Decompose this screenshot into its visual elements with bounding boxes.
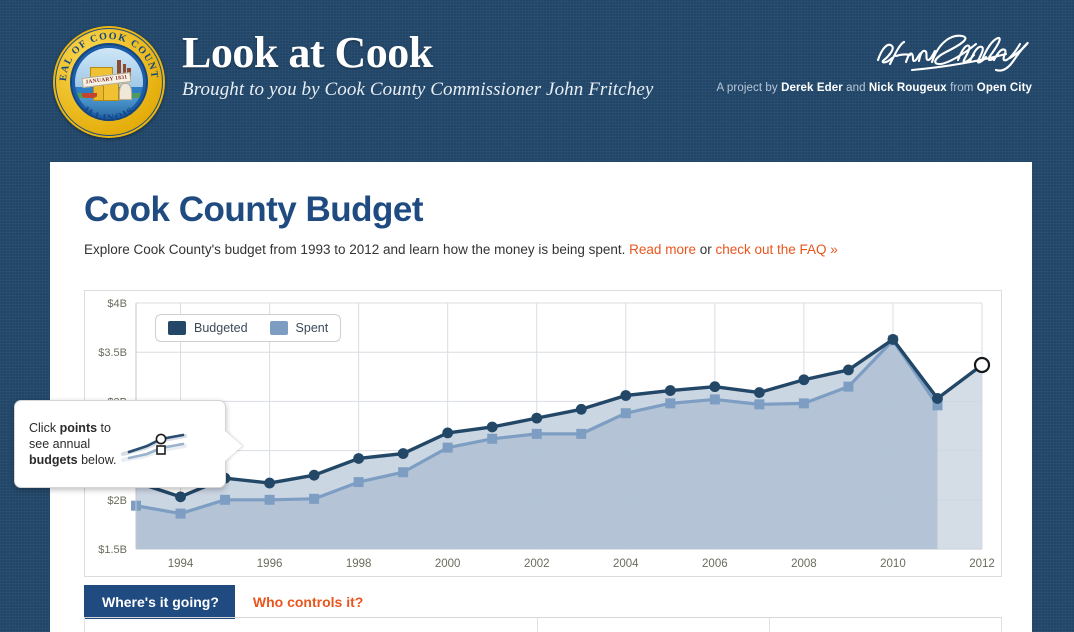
budgeted-data-point[interactable] xyxy=(442,427,453,438)
budgeted-data-point[interactable] xyxy=(709,381,720,392)
x-axis-tick-label: 2008 xyxy=(791,558,817,570)
credits-text: A project by Derek Eder and Nick Rougeux… xyxy=(702,82,1032,94)
budgeted-data-point-selected[interactable] xyxy=(975,358,989,372)
x-axis-tick-label: 2002 xyxy=(524,558,550,570)
spent-data-point[interactable] xyxy=(354,477,364,487)
budgeted-data-point[interactable] xyxy=(576,404,587,415)
callout-text: Click points to see annual budgets below… xyxy=(15,420,119,468)
legend-item-spent[interactable]: Spent xyxy=(270,321,329,335)
seal-ring-text: SEAL OF COOK COUNTY ILLINOIS xyxy=(53,26,165,138)
budgeted-data-point[interactable] xyxy=(620,390,631,401)
budgeted-data-point[interactable] xyxy=(264,478,275,489)
spent-data-point[interactable] xyxy=(754,399,764,409)
seal-arc-bottom: ILLINOIS xyxy=(81,105,137,124)
x-axis-tick-label: 2010 xyxy=(880,558,906,570)
legend-label-spent: Spent xyxy=(296,321,329,335)
tab-wheres-it-going[interactable]: Where's it going? xyxy=(84,585,235,619)
svg-text:SEAL OF COOK COUNTY: SEAL OF COOK COUNTY xyxy=(53,26,160,82)
spent-data-point[interactable] xyxy=(487,434,497,444)
y-axis-tick-label: $2B xyxy=(107,495,127,507)
credits-conjunction: and xyxy=(843,82,869,94)
page-subtitle: Explore Cook County's budget from 1993 t… xyxy=(50,230,1032,257)
callout-arrow-icon xyxy=(225,431,242,461)
x-axis-tick-label: 2000 xyxy=(435,558,461,570)
seal-arc-top: SEAL OF COOK COUNTY xyxy=(53,26,160,82)
svg-text:ILLINOIS: ILLINOIS xyxy=(81,105,137,124)
spent-data-point[interactable] xyxy=(265,495,275,505)
column-divider xyxy=(84,618,85,632)
chart-hint-callout[interactable]: Click points to see annual budgets below… xyxy=(14,400,226,488)
spent-data-point[interactable] xyxy=(710,394,720,404)
y-axis-tick-label: $4B xyxy=(107,298,127,310)
budgeted-data-point[interactable] xyxy=(754,387,765,398)
spent-data-point[interactable] xyxy=(843,382,853,392)
subtitle-text: Explore Cook County's budget from 1993 t… xyxy=(84,242,629,257)
content-panel: Cook County Budget Explore Cook County's… xyxy=(50,162,1032,632)
x-axis-tick-label: 1998 xyxy=(346,558,372,570)
tab-underline xyxy=(84,617,1002,618)
subtitle-chevron: » xyxy=(827,242,838,257)
budgeted-data-point[interactable] xyxy=(798,374,809,385)
callout-line3-after: below. xyxy=(78,453,117,467)
budgeted-data-point[interactable] xyxy=(309,470,320,481)
column-divider xyxy=(537,618,538,632)
budgeted-data-point[interactable] xyxy=(531,413,542,424)
x-axis-tick-label: 1996 xyxy=(257,558,283,570)
credit-author-2[interactable]: Nick Rougeux xyxy=(869,82,947,94)
spent-data-point[interactable] xyxy=(665,398,675,408)
credits-block: A project by Derek Eder and Nick Rougeux… xyxy=(702,30,1032,94)
budgeted-data-point[interactable] xyxy=(487,422,498,433)
cook-county-seal-icon: JANUARY 1831 SEAL OF COOK COUNTY ILLINOI… xyxy=(53,26,165,138)
spent-data-point[interactable] xyxy=(176,509,186,519)
legend-swatch-spent xyxy=(270,321,288,335)
spent-data-point[interactable] xyxy=(220,495,230,505)
column-divider xyxy=(769,618,770,632)
spent-data-point[interactable] xyxy=(799,398,809,408)
spent-data-point[interactable] xyxy=(309,494,319,504)
tab-who-controls-it[interactable]: Who controls it? xyxy=(235,585,379,619)
budgeted-data-point[interactable] xyxy=(843,365,854,376)
budgeted-data-point[interactable] xyxy=(353,453,364,464)
budgeted-data-point[interactable] xyxy=(888,334,899,345)
column-divider xyxy=(1001,618,1002,632)
budgeted-data-point[interactable] xyxy=(398,448,409,459)
callout-line2: see annual xyxy=(29,437,90,451)
callout-line1-after: to xyxy=(97,421,111,435)
tab-bar: Where's it going? Who controls it? xyxy=(84,585,379,619)
page-title: Cook County Budget xyxy=(50,162,1032,230)
budgeted-data-point[interactable] xyxy=(175,491,186,502)
callout-bold-budgets: budgets xyxy=(29,453,78,467)
x-axis-tick-label: 2012 xyxy=(969,558,995,570)
spent-data-point[interactable] xyxy=(621,408,631,418)
site-tagline: Brought to you by Cook County Commission… xyxy=(182,79,653,101)
subtitle-or: or xyxy=(696,242,716,257)
budgeted-data-point[interactable] xyxy=(932,393,943,404)
callout-line1-before: Click xyxy=(29,421,60,435)
budgeted-data-point[interactable] xyxy=(665,385,676,396)
legend-item-budgeted[interactable]: Budgeted xyxy=(168,321,248,335)
legend-label-budgeted: Budgeted xyxy=(194,321,248,335)
credits-middle: from xyxy=(947,82,977,94)
y-axis-tick-label: $1.5B xyxy=(98,544,127,556)
signature-icon xyxy=(702,30,1032,76)
x-axis-tick-label: 1994 xyxy=(168,558,194,570)
x-axis-tick-label: 2006 xyxy=(702,558,728,570)
credit-org[interactable]: Open City xyxy=(977,82,1032,94)
callout-illustration-icon xyxy=(119,414,209,474)
spent-data-point[interactable] xyxy=(398,467,408,477)
spent-data-point[interactable] xyxy=(443,443,453,453)
spent-data-point[interactable] xyxy=(576,429,586,439)
legend-swatch-budgeted xyxy=(168,321,186,335)
faq-link[interactable]: check out the FAQ xyxy=(715,242,826,257)
site-title: Look at Cook xyxy=(182,30,653,76)
credits-prefix: A project by xyxy=(716,82,781,94)
chart-legend: Budgeted Spent xyxy=(155,314,341,342)
brand-block: Look at Cook Brought to you by Cook Coun… xyxy=(182,30,653,101)
x-axis-tick-label: 2004 xyxy=(613,558,639,570)
read-more-link[interactable]: Read more xyxy=(629,242,696,257)
credit-author-1[interactable]: Derek Eder xyxy=(781,82,843,94)
callout-bold-points: points xyxy=(60,421,98,435)
y-axis-tick-label: $3.5B xyxy=(98,347,127,359)
spent-data-point[interactable] xyxy=(532,429,542,439)
site-header: JANUARY 1831 SEAL OF COOK COUNTY ILLINOI… xyxy=(0,0,1074,162)
